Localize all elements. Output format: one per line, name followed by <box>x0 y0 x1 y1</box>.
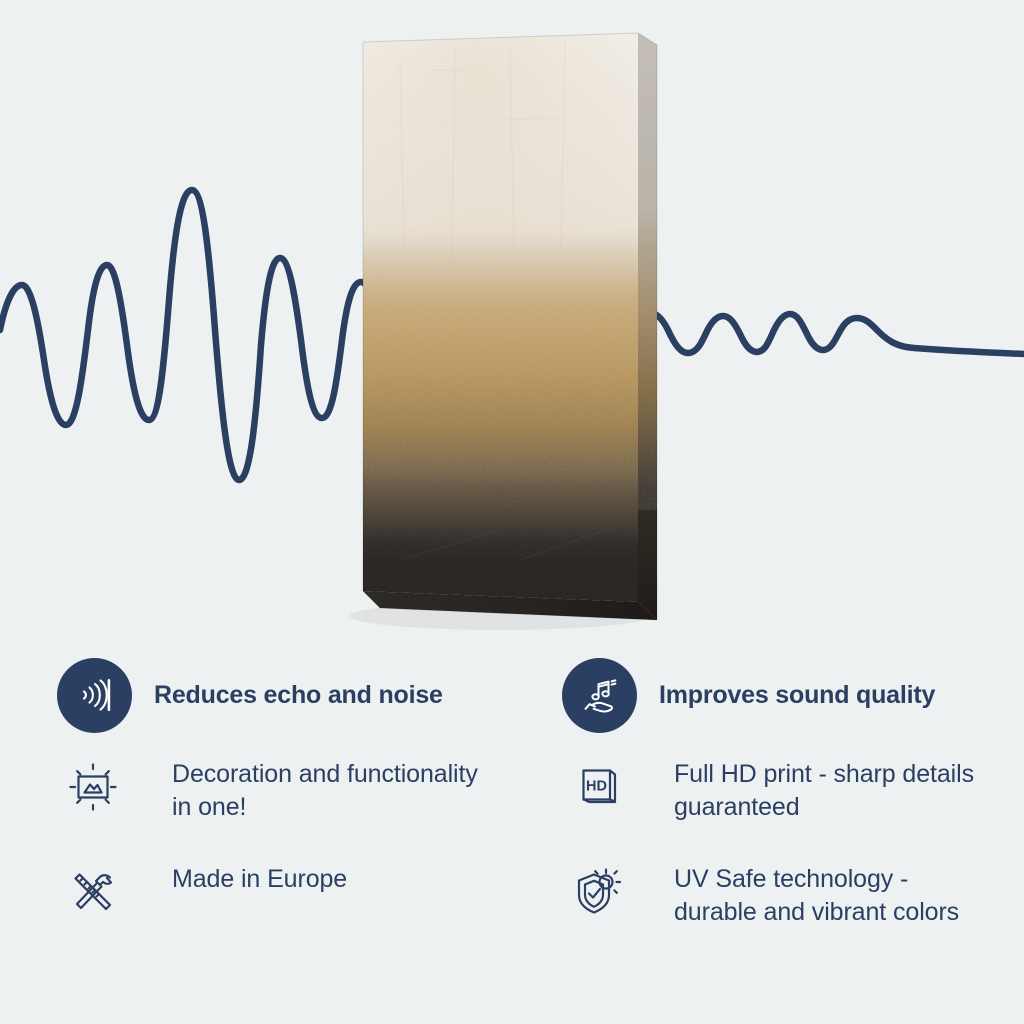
sound-absorption-icon <box>57 658 132 733</box>
feature-line-1: Full HD print - sharp details <box>674 760 974 788</box>
highlight-reduces-echo: Reduces echo and noise <box>0 636 500 754</box>
feature-line-1: UV Safe technology - <box>674 865 908 893</box>
feature-hd-print: HD Full HD print - sharp details guarant… <box>524 754 1024 859</box>
framed-picture-icon <box>62 756 124 818</box>
feature-uv-safe: UV Safe technology - durable and vibrant… <box>524 859 1024 964</box>
feature-line-1: Made in Europe <box>172 865 347 893</box>
feature-text: UV Safe technology - durable and vibrant… <box>674 859 959 929</box>
feature-made-in-europe: Made in Europe <box>0 859 500 964</box>
feature-text: Full HD print - sharp details guaranteed <box>674 754 974 824</box>
highlight-improves-sound: Improves sound quality <box>524 636 1024 754</box>
ruler-hammer-icon <box>62 861 124 923</box>
uv-shield-sun-icon <box>568 861 630 923</box>
feature-text: Decoration and functionality in one! <box>172 754 478 824</box>
infographic-stage: Reduces echo and noise <box>0 0 1024 1024</box>
hand-music-note-icon <box>562 658 637 733</box>
canvas-front-face <box>363 33 663 613</box>
hd-print-icon: HD <box>568 756 630 818</box>
feature-text: Made in Europe <box>172 859 347 896</box>
canvas-artwork <box>0 0 1024 660</box>
feature-list: Reduces echo and noise <box>0 636 1024 1024</box>
feature-line-2: guaranteed <box>674 793 800 821</box>
feature-line-2: in one! <box>172 793 246 821</box>
feature-line-2: durable and vibrant colors <box>674 898 959 926</box>
canvas-side-edge <box>636 33 660 620</box>
highlight-label: Reduces echo and noise <box>154 681 443 710</box>
feature-line-1: Decoration and functionality <box>172 760 478 788</box>
feature-decoration: Decoration and functionality in one! <box>0 754 500 859</box>
hd-badge-text: HD <box>586 779 607 795</box>
highlight-label: Improves sound quality <box>659 681 935 710</box>
